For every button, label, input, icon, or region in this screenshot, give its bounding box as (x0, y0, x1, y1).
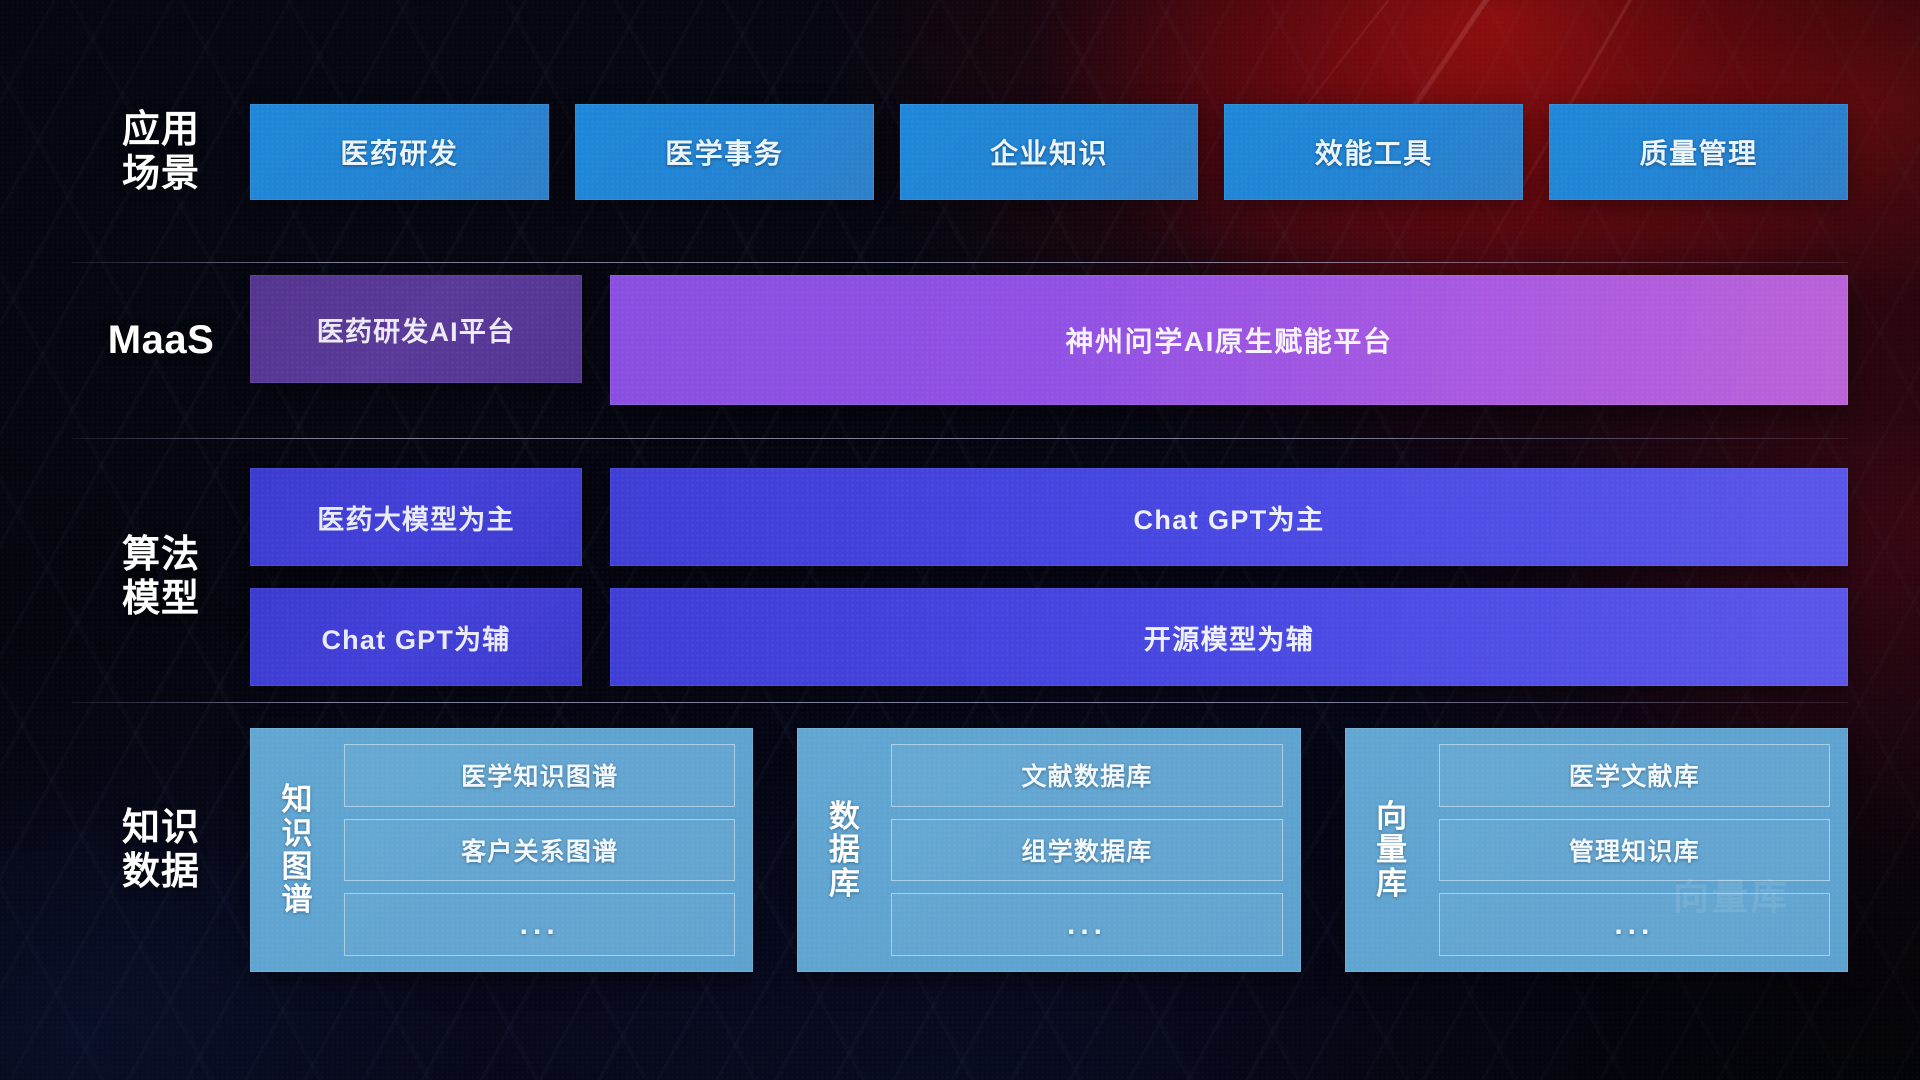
vlabel-char-2: 量 (1376, 833, 1407, 866)
row-algorithm-models: 算法 模型 医药大模型为主 Chat GPT为主 Chat GPT为辅 开源模型… (72, 468, 1848, 686)
knowledge-group-knowledge-graph[interactable]: 知 识 图 谱 医学知识图谱 客户关系图谱 ... (250, 728, 753, 972)
row-label-line-2: 数据 (72, 850, 250, 894)
row-body-knowledge-data: 知 识 图 谱 医学知识图谱 客户关系图谱 ... 数 据 (250, 728, 1848, 972)
algorithm-line-primary: 医药大模型为主 Chat GPT为主 (250, 468, 1848, 566)
row-body-application-scenarios: 医药研发 医学事务 企业知识 效能工具 质量管理 (250, 104, 1848, 200)
algo-box-chatgpt-primary[interactable]: Chat GPT为主 (610, 468, 1848, 566)
app-box-drug-rd[interactable]: 医药研发 (250, 104, 549, 200)
row-label-line-2: 场景 (72, 152, 250, 196)
row-application-scenarios: 应用 场景 医药研发 医学事务 企业知识 效能工具 质量管理 (72, 104, 1848, 200)
vlabel-char-2: 据 (829, 833, 860, 866)
application-box-list: 医药研发 医学事务 企业知识 效能工具 质量管理 (250, 104, 1848, 200)
maas-box-shenzhou-wenxue-platform[interactable]: 神州问学AI原生赋能平台 (610, 275, 1848, 405)
row-label-maas: MaaS (72, 317, 250, 363)
knowledge-item-list-vector-store: 医学文献库 管理知识库 ... (1423, 744, 1830, 956)
knowledge-item-literature-database[interactable]: 文献数据库 (891, 744, 1282, 807)
algo-box-pharma-large-model-primary[interactable]: 医药大模型为主 (250, 468, 582, 566)
diagram-content: 应用 场景 医药研发 医学事务 企业知识 效能工具 质量管理 MaaS 医药研发… (0, 0, 1920, 1080)
knowledge-group-label-knowledge-graph: 知 识 图 谱 (266, 744, 328, 956)
app-box-enterprise-knowledge[interactable]: 企业知识 (900, 104, 1199, 200)
knowledge-item-list-database: 文献数据库 组学数据库 ... (875, 744, 1282, 956)
knowledge-group-label-vector-store: 向 量 库 (1361, 744, 1423, 956)
vlabel-char-1: 数 (829, 800, 860, 833)
knowledge-item-management-knowledge-store[interactable]: 管理知识库 (1439, 819, 1830, 882)
app-box-quality-management[interactable]: 质量管理 (1549, 104, 1848, 200)
knowledge-item-more-knowledge-graph[interactable]: ... (344, 893, 735, 956)
row-label-line-2: 模型 (72, 577, 250, 621)
knowledge-item-more-vector-store[interactable]: ... (1439, 893, 1830, 956)
app-box-efficiency-tools[interactable]: 效能工具 (1224, 104, 1523, 200)
knowledge-item-customer-relation-graph[interactable]: 客户关系图谱 (344, 819, 735, 882)
app-box-medical-affairs[interactable]: 医学事务 (575, 104, 874, 200)
knowledge-item-more-database[interactable]: ... (891, 893, 1282, 956)
vlabel-char-2: 识 (282, 817, 313, 850)
row-label-knowledge-data: 知识 数据 (72, 806, 250, 894)
knowledge-item-list-knowledge-graph: 医学知识图谱 客户关系图谱 ... (328, 744, 735, 956)
row-knowledge-data: 知识 数据 知 识 图 谱 医学知识图谱 客户关系图谱 ... (72, 728, 1848, 972)
knowledge-group-label-database: 数 据 库 (813, 744, 875, 956)
row-label-algorithm-models: 算法 模型 (72, 533, 250, 621)
vlabel-char-1: 知 (282, 783, 313, 816)
vlabel-char-3: 库 (829, 867, 860, 900)
row-label-line-1: 知识 (72, 806, 250, 850)
row-maas: MaaS 医药研发AI平台 神州问学AI原生赋能平台 (72, 286, 1848, 394)
maas-box-drug-rd-ai-platform[interactable]: 医药研发AI平台 (250, 275, 582, 383)
vlabel-char-3: 图 (282, 850, 313, 883)
knowledge-group-vector-store[interactable]: 向 量 库 向量库 医学文献库 管理知识库 ... (1345, 728, 1848, 972)
knowledge-item-omics-database[interactable]: 组学数据库 (891, 819, 1282, 882)
row-label-line-1: 应用 (72, 108, 250, 152)
slide-canvas: 应用 场景 医药研发 医学事务 企业知识 效能工具 质量管理 MaaS 医药研发… (0, 0, 1920, 1080)
divider-maas-algorithm (72, 438, 1848, 439)
divider-apps-maas (72, 262, 1848, 263)
vlabel-char-1: 向 (1376, 800, 1407, 833)
divider-algorithm-knowledge (72, 702, 1848, 703)
algo-box-chatgpt-secondary[interactable]: Chat GPT为辅 (250, 588, 582, 686)
vlabel-char-4: 谱 (282, 883, 313, 916)
algorithm-line-secondary: Chat GPT为辅 开源模型为辅 (250, 588, 1848, 686)
row-body-algorithm-models: 医药大模型为主 Chat GPT为主 Chat GPT为辅 开源模型为辅 (250, 468, 1848, 686)
knowledge-item-medical-literature-store[interactable]: 医学文献库 (1439, 744, 1830, 807)
knowledge-item-medical-knowledge-graph[interactable]: 医学知识图谱 (344, 744, 735, 807)
algo-box-opensource-secondary[interactable]: 开源模型为辅 (610, 588, 1848, 686)
vlabel-char-3: 库 (1376, 867, 1407, 900)
row-label-application-scenarios: 应用 场景 (72, 108, 250, 196)
row-label-line-1: 算法 (72, 533, 250, 577)
row-body-maas: 医药研发AI平台 神州问学AI原生赋能平台 (250, 275, 1848, 405)
knowledge-group-database[interactable]: 数 据 库 文献数据库 组学数据库 ... (797, 728, 1300, 972)
